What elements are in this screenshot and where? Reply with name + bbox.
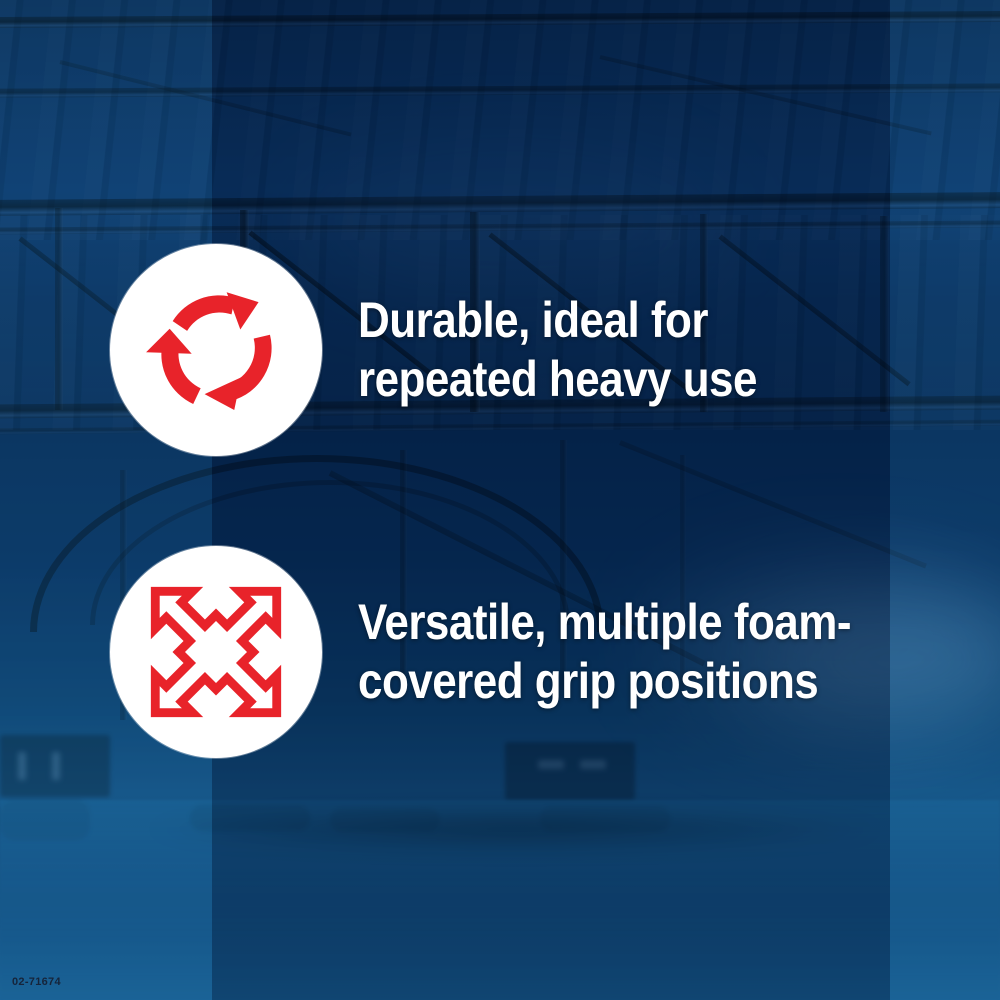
overlay-band-right — [890, 0, 1000, 1000]
feature-graphic: Durable, ideal for repeated heavy use Ve… — [0, 0, 1000, 1000]
four-way-expand-arrows-icon — [147, 583, 285, 721]
feature-text: Durable, ideal for repeated heavy use — [358, 291, 757, 409]
product-code-label: 02-71674 — [12, 976, 61, 988]
overlay-band-center — [212, 0, 890, 1000]
recycle-cycle-arrows-icon — [140, 274, 292, 426]
feature-icon-badge — [110, 546, 322, 758]
feature-icon-badge — [110, 244, 322, 456]
feature-item: Durable, ideal for repeated heavy use — [110, 244, 811, 456]
overlay-band-left — [0, 0, 212, 1000]
feature-text: Versatile, multiple foam- covered grip p… — [358, 593, 851, 711]
feature-item: Versatile, multiple foam- covered grip p… — [110, 546, 918, 758]
